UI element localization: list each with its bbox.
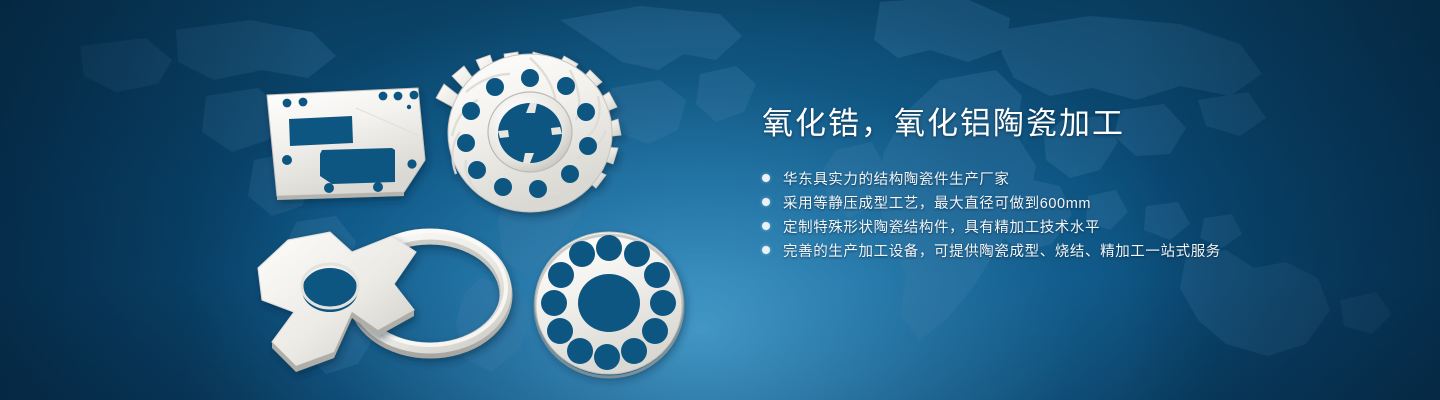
ceramic-plate-cutout xyxy=(267,88,425,200)
bullet-dot-icon xyxy=(762,174,770,182)
ceramic-impeller-wheel xyxy=(436,52,621,212)
list-item-label: 采用等静压成型工艺，最大直径可做到600mm xyxy=(783,192,1091,213)
list-item: 定制特殊形状陶瓷结构件，具有精加工技术水平 xyxy=(762,214,1382,238)
bullet-dot-icon xyxy=(762,198,770,206)
list-item-label: 定制特殊形状陶瓷结构件，具有精加工技术水平 xyxy=(783,216,1100,237)
banner-text-block: 氧化锆，氧化铝陶瓷加工 华东具实力的结构陶瓷件生产厂家 采用等静压成型工艺，最大… xyxy=(762,104,1382,262)
bullet-dot-icon xyxy=(762,222,770,230)
list-item-label: 完善的生产加工设备，可提供陶瓷成型、烧结、精加工一站式服务 xyxy=(783,240,1221,261)
list-item-label: 华东具实力的结构陶瓷件生产厂家 xyxy=(783,168,1010,189)
list-item: 完善的生产加工设备，可提供陶瓷成型、烧结、精加工一站式服务 xyxy=(762,238,1382,262)
ceramic-products-image xyxy=(0,0,760,400)
feature-list: 华东具实力的结构陶瓷件生产厂家 采用等静压成型工艺，最大直径可做到600mm 定… xyxy=(762,166,1382,262)
list-item: 采用等静压成型工艺，最大直径可做到600mm xyxy=(762,190,1382,214)
bullet-dot-icon xyxy=(762,246,770,254)
ceramic-perforated-disc xyxy=(535,232,683,377)
page-title: 氧化锆，氧化铝陶瓷加工 xyxy=(762,104,1382,144)
hero-banner: 氧化锆，氧化铝陶瓷加工 华东具实力的结构陶瓷件生产厂家 采用等静压成型工艺，最大… xyxy=(0,0,1440,400)
list-item: 华东具实力的结构陶瓷件生产厂家 xyxy=(762,166,1382,190)
